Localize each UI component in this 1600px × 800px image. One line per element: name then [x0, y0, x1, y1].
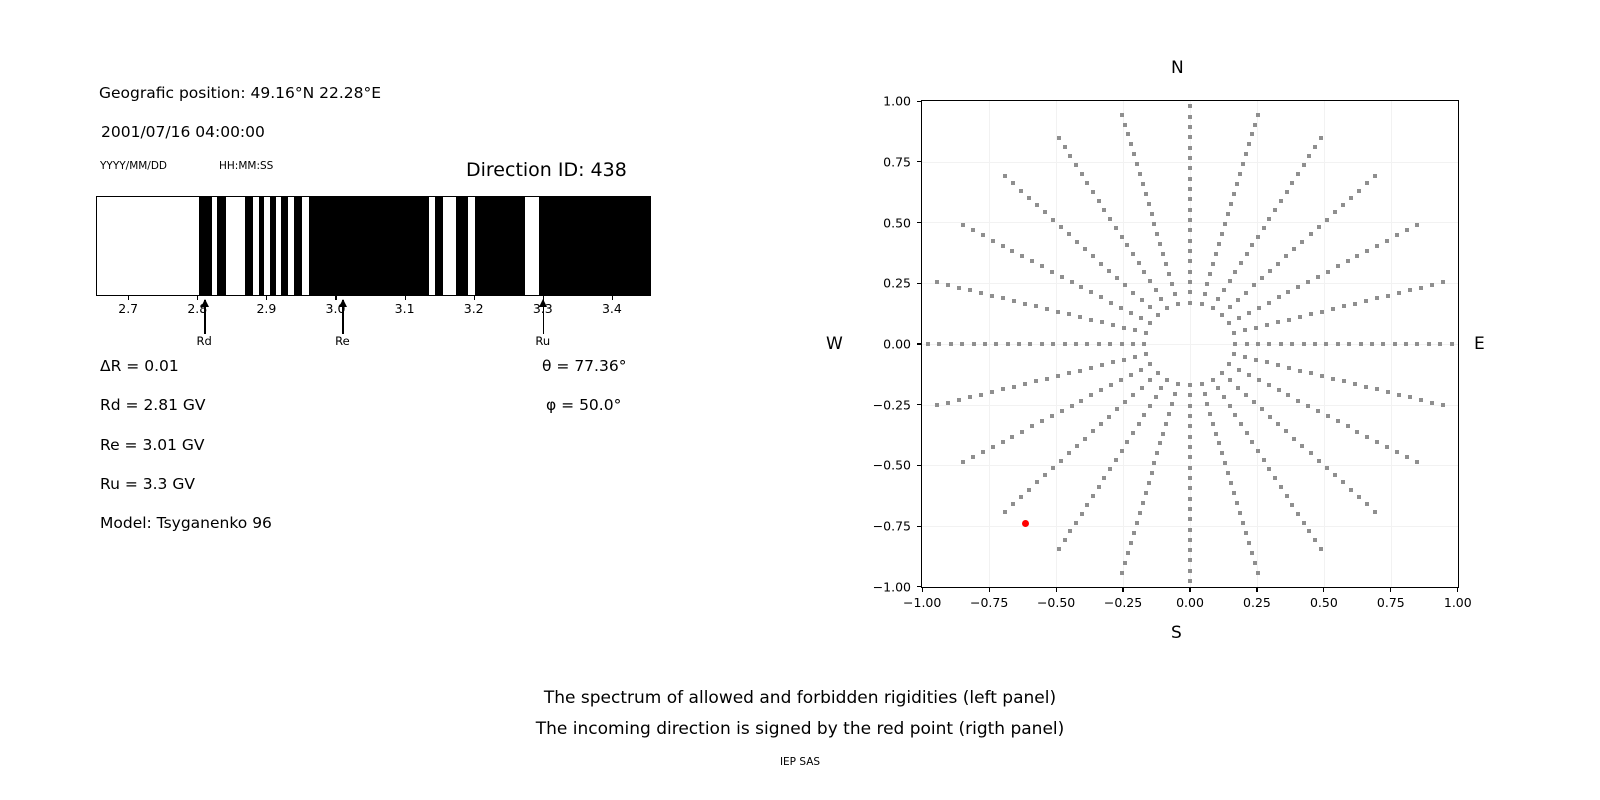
param-delta-r-text: ΔR = 0.01: [100, 357, 179, 375]
y-axis-tick-label: 0.25: [853, 276, 911, 291]
y-axis-tick-label: −0.50: [853, 458, 911, 473]
datetime-label: 2001/07/16 04:00:00: [101, 123, 265, 141]
y-axis-tick-label: 1.00: [853, 94, 911, 109]
y-axis-tick: [917, 283, 921, 284]
rigidity-spectrum-panel: Geografic position: 49.16°N 22.28°E 2001…: [0, 0, 800, 800]
forbidden-band: [456, 197, 468, 295]
arrow-up-icon: [201, 299, 209, 307]
forbidden-band: [539, 197, 650, 295]
x-axis-tick: [922, 588, 923, 592]
y-axis-tick-label: 0.75: [853, 154, 911, 169]
x-axis-tick-label: −0.75: [970, 595, 1008, 610]
forbidden-band: [435, 197, 443, 295]
y-axis-tick-label: −0.25: [853, 397, 911, 412]
forbidden-band: [217, 197, 225, 295]
y-axis-tick-label: 0.00: [853, 337, 911, 352]
y-axis-tick: [917, 526, 921, 527]
x-axis-tick-label: 1.00: [1444, 595, 1472, 610]
x-axis-tick-label: 0.00: [1176, 595, 1204, 610]
y-axis-tick: [917, 465, 921, 466]
param-re: Re = 3.01 GV: [100, 436, 205, 454]
y-axis-tick-label: −1.00: [853, 579, 911, 594]
y-axis-tick: [917, 404, 921, 405]
param-model: Model: Tsyganenko 96: [100, 514, 272, 532]
rigidity-marker-group: RdReRu: [96, 300, 651, 360]
x-axis-tick: [1457, 588, 1458, 592]
time-format-hint: HH:MM:SS: [219, 160, 273, 172]
direction-plot-ticks: −1.00−0.75−0.50−0.250.000.250.500.751.00…: [800, 0, 1600, 800]
forbidden-band: [270, 197, 276, 295]
x-axis-tick-label: −0.50: [1037, 595, 1075, 610]
forbidden-band: [245, 197, 253, 295]
direction-id-label: Direction ID: 438: [466, 159, 627, 181]
param-phi: φ = 50.0°: [546, 396, 621, 414]
x-axis-tick-label: 0.25: [1243, 595, 1271, 610]
footer-credit: IEP SAS: [0, 756, 1600, 768]
param-theta: θ = 77.36°: [542, 357, 626, 375]
forbidden-band: [199, 197, 212, 295]
x-axis-tick: [1122, 588, 1123, 592]
x-axis-tick-label: 0.75: [1377, 595, 1405, 610]
caption-line-2: The incoming direction is signed by the …: [0, 719, 1600, 739]
x-axis-tick: [1256, 588, 1257, 592]
x-axis-tick: [1189, 588, 1190, 592]
y-axis-tick: [917, 586, 921, 587]
forbidden-band: [281, 197, 288, 295]
rigidity-marker-label: Re: [335, 334, 350, 348]
x-axis-tick-label: −0.25: [1104, 595, 1142, 610]
date-format-hint: YYYY/MM/DD: [100, 160, 167, 172]
direction-map-panel: N S W E −1.00−0.75−0.50−0.250.000.250.50…: [800, 0, 1600, 800]
x-axis-tick: [1056, 588, 1057, 592]
rigidity-marker-label: Rd: [197, 334, 212, 348]
x-axis-tick-label: 0.50: [1310, 595, 1338, 610]
y-axis-tick: [917, 101, 921, 102]
y-axis-tick: [917, 343, 921, 344]
y-axis-tick: [917, 222, 921, 223]
x-axis-tick: [1390, 588, 1391, 592]
param-ru: Ru = 3.3 GV: [100, 475, 195, 493]
y-axis-tick-label: 0.50: [853, 215, 911, 230]
forbidden-band: [475, 197, 525, 295]
param-delta-r: ΔR = 0.01: [100, 357, 179, 375]
forbidden-band: [259, 197, 265, 295]
arrow-up-icon: [539, 299, 547, 307]
y-axis-tick-label: −0.75: [853, 519, 911, 534]
geographic-position-label: Geografic position: 49.16°N 22.28°E: [99, 84, 381, 102]
x-axis-tick-label: −1.00: [903, 595, 941, 610]
forbidden-band: [294, 197, 302, 295]
caption-line-1: The spectrum of allowed and forbidden ri…: [0, 688, 1600, 708]
rigidity-spectrum-bar: [96, 196, 651, 296]
param-rd: Rd = 2.81 GV: [100, 396, 206, 414]
forbidden-band: [309, 197, 429, 295]
arrow-up-icon: [339, 299, 347, 307]
y-axis-tick: [917, 161, 921, 162]
rigidity-marker-label: Ru: [535, 334, 550, 348]
x-axis-tick: [989, 588, 990, 592]
x-axis-tick: [1323, 588, 1324, 592]
